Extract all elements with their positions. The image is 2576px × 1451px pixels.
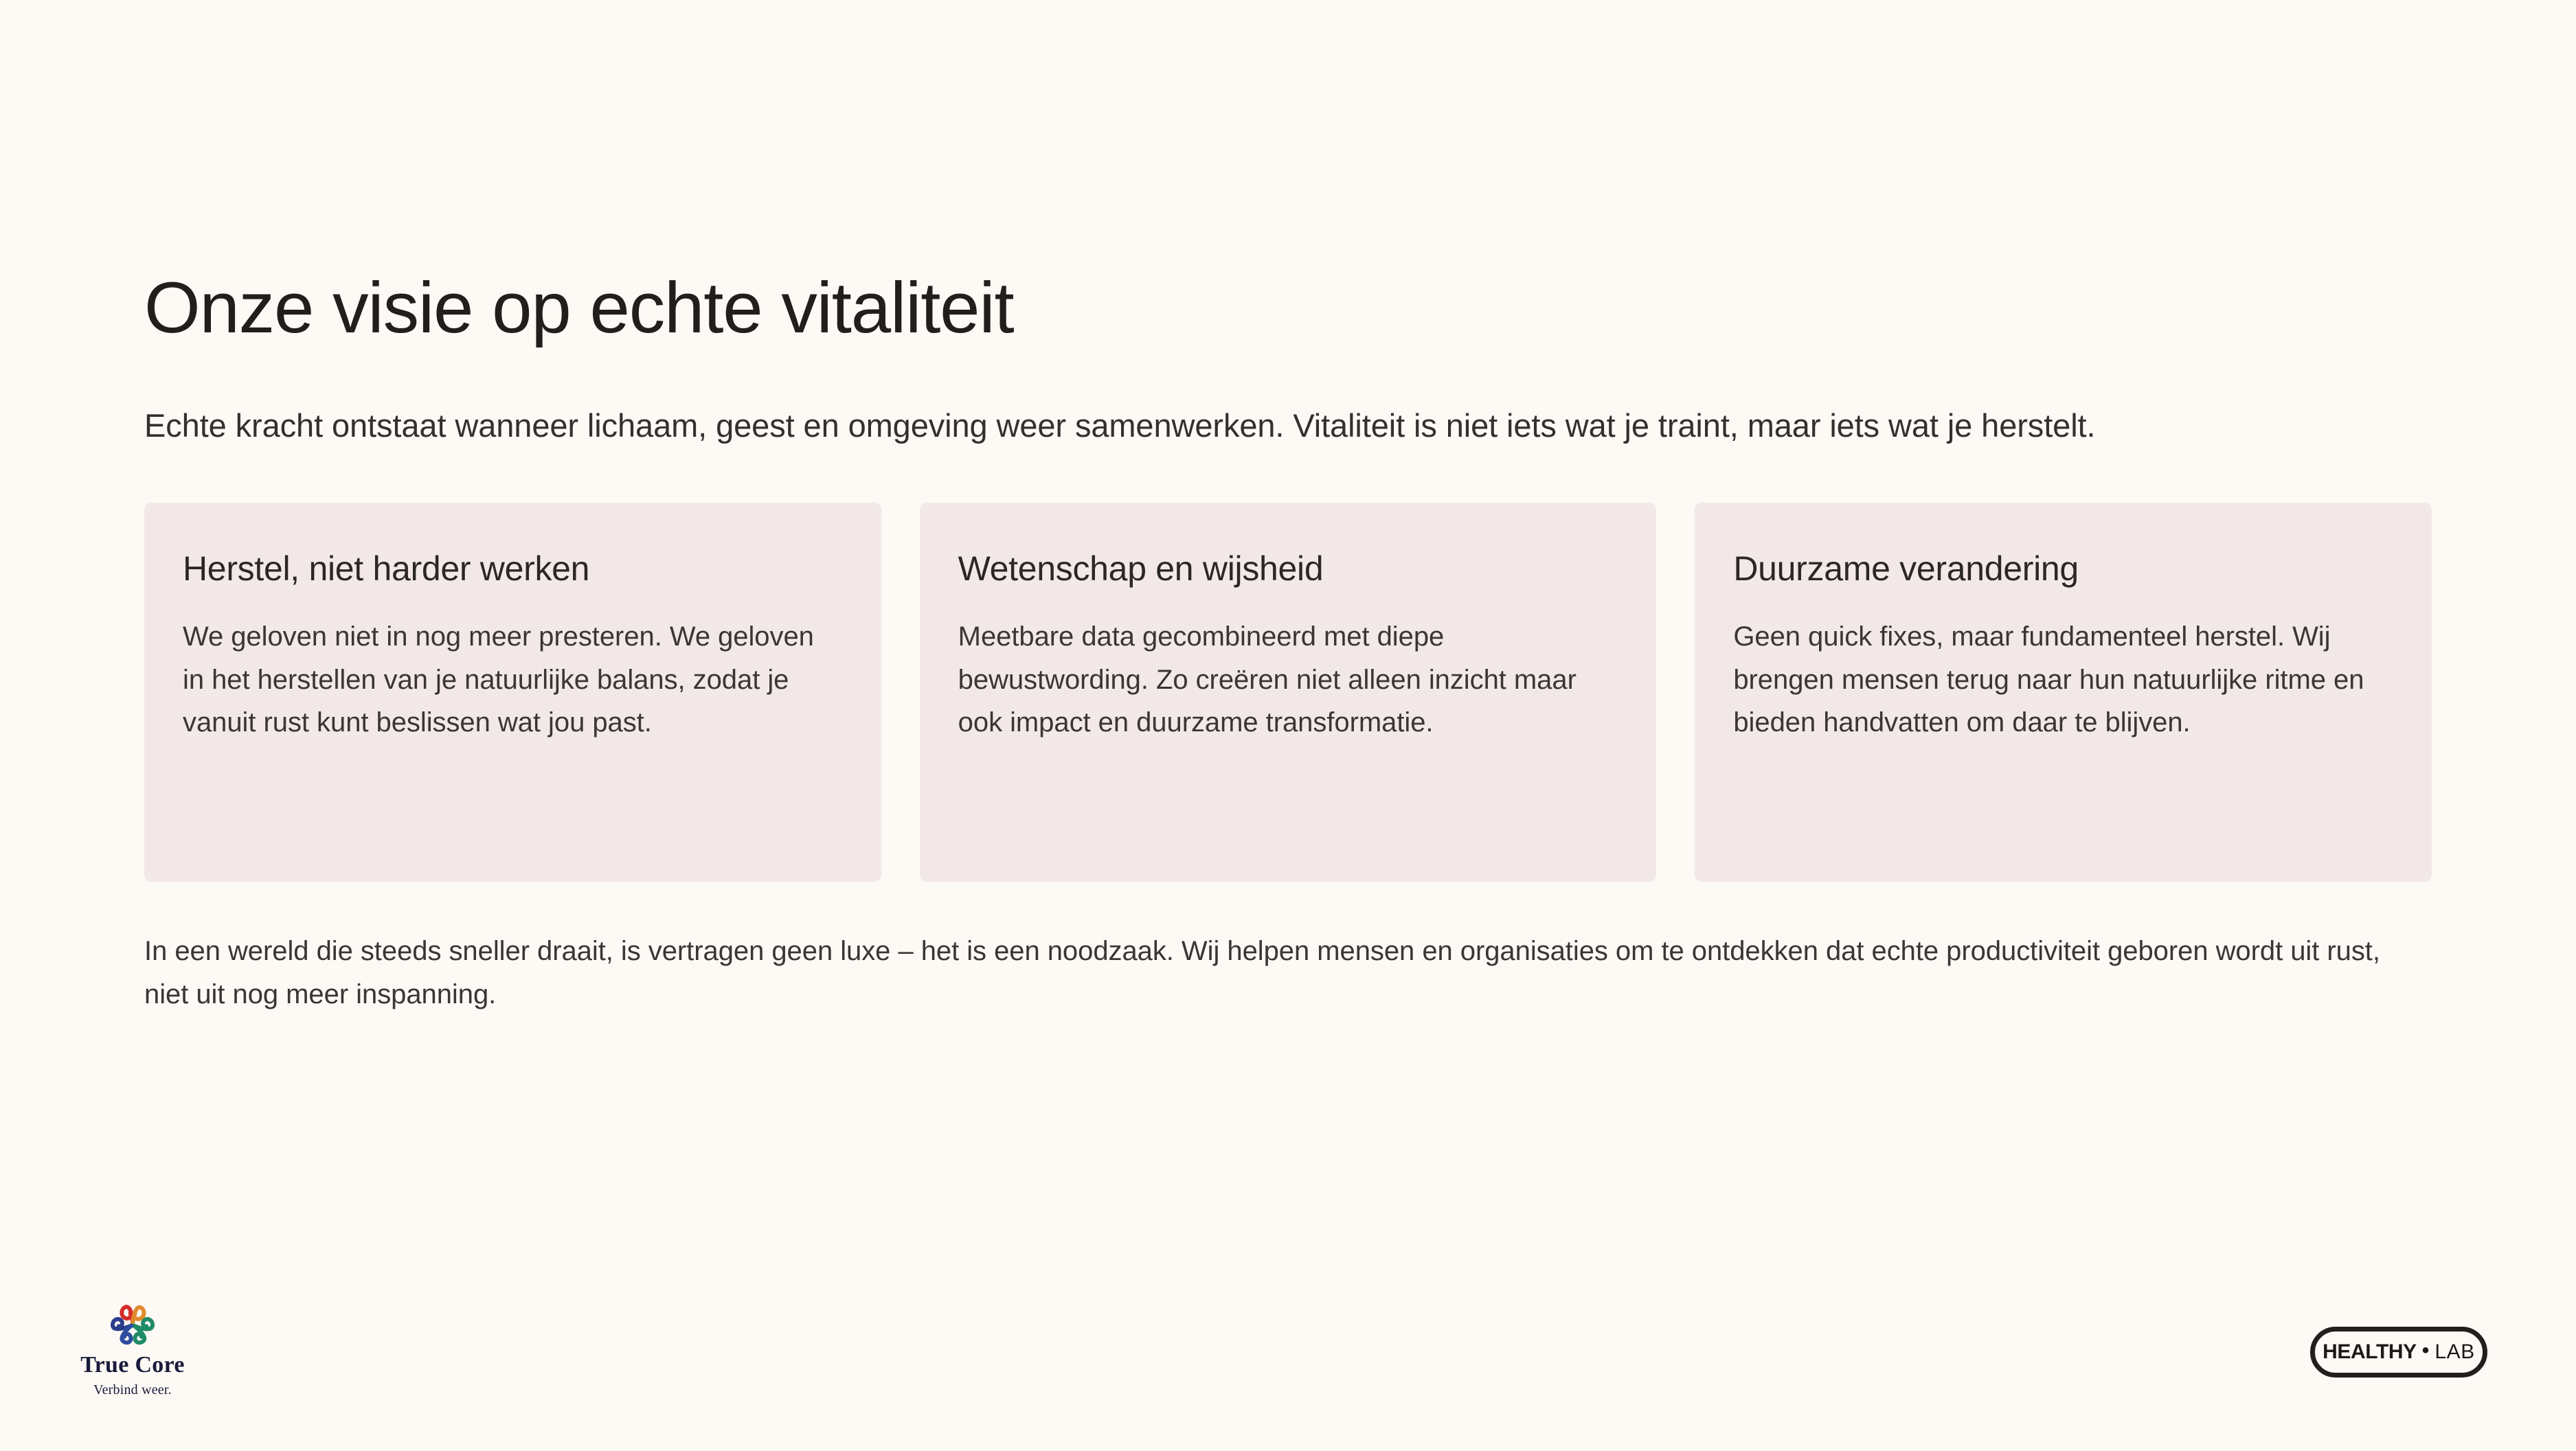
slide-root: Onze visie op echte vitaliteit Echte kra… (0, 0, 2576, 1451)
brand-tagline: Verbind weer. (54, 1383, 212, 1397)
card-body: Meetbare data gecombineerd met diepe bew… (958, 615, 1618, 744)
brand-logo: True Core Verbind weer. (54, 1296, 212, 1397)
value-card: Wetenschap en wijsheid Meetbare data gec… (920, 503, 1657, 882)
triskelion-spiral-icon (103, 1296, 162, 1350)
healthy-lab-badge: HEALTHY • LAB (2310, 1327, 2487, 1378)
value-card: Duurzame verandering Geen quick fixes, m… (1695, 503, 2432, 882)
page-title: Onze visie op echte vitaliteit (144, 268, 2432, 349)
card-body: We geloven niet in nog meer presteren. W… (183, 615, 843, 744)
value-card: Herstel, niet harder werken We geloven n… (144, 503, 881, 882)
badge-separator-dot: • (2422, 1340, 2430, 1361)
intro-paragraph: Echte kracht ontstaat wanneer lichaam, g… (144, 402, 2384, 450)
card-title: Duurzame verandering (1733, 548, 2393, 589)
content-area: Onze visie op echte vitaliteit Echte kra… (144, 268, 2432, 1016)
card-title: Wetenschap en wijsheid (958, 548, 1618, 589)
card-title: Herstel, niet harder werken (183, 548, 843, 589)
value-cards-row: Herstel, niet harder werken We geloven n… (144, 503, 2432, 882)
card-body: Geen quick fixes, maar fundamenteel hers… (1733, 615, 2393, 744)
badge-lab-text: LAB (2434, 1340, 2475, 1364)
badge-healthy-text: HEALTHY (2323, 1340, 2417, 1364)
brand-name: True Core (54, 1353, 212, 1377)
closing-paragraph: In een wereld die steeds sneller draait,… (144, 930, 2432, 1016)
